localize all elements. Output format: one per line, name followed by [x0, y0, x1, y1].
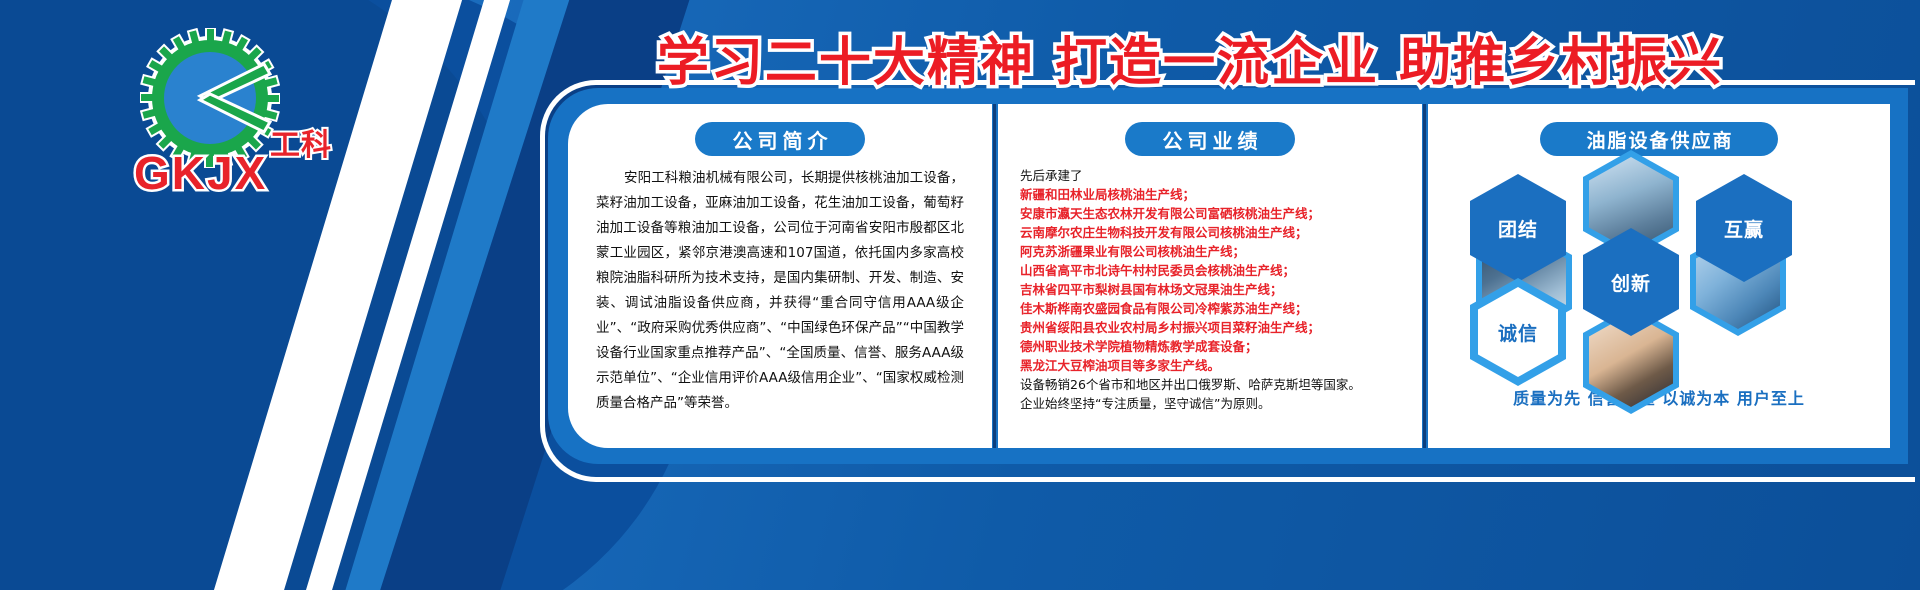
performance-tail: 设备畅销26个省市和地区并出口俄罗斯、哈萨克斯坦等国家。企业始终坚持“专注质量，…	[1016, 375, 1404, 413]
company-logo: 工科 GKJX	[118, 28, 348, 208]
company-profile-body: 安阳工科粮油机械有限公司，长期提供核桃油加工设备，菜籽油加工设备，亚麻油加工设备…	[586, 166, 974, 416]
panel-divider-2	[1423, 104, 1426, 448]
project-list: 新疆和田林业局核桃油生产线；安康市瀛天生态农林开发有限公司富硒核桃油生产线；云南…	[1016, 185, 1404, 375]
panel-title-company-profile: 公司简介	[695, 122, 865, 156]
project-item: 阿克苏浙疆果业有限公司核桃油生产线；	[1016, 242, 1404, 261]
project-item: 黑龙江大豆榨油项目等多家生产线。	[1016, 356, 1404, 375]
performance-lead: 先后承建了	[1016, 166, 1404, 185]
hex-label-innovation: 创新	[1583, 228, 1679, 336]
project-item: 吉林省四平市梨树县国有林场文冠果油生产线；	[1016, 280, 1404, 299]
panel-company-performance: 公司业绩 先后承建了 新疆和田林业局核桃油生产线；安康市瀛天生态农林开发有限公司…	[998, 104, 1422, 448]
performance-note: 设备畅销26个省市和地区并出口俄罗斯、哈萨克斯坦等国家。	[1016, 375, 1404, 394]
panel-oil-equipment-supplier: 油脂设备供应商 团结 互赢 创新 诚信 质量为先 信誉为重 以诚为本 用户至上	[1428, 104, 1890, 448]
logo-latin-text: GKJX	[134, 146, 267, 200]
hexagon-cluster: 团结 互赢 创新 诚信	[1446, 166, 1886, 381]
project-item: 佳木斯桦南农盛园食品有限公司冷榨紫苏油生产线；	[1016, 299, 1404, 318]
hex-label-integrity-text: 诚信	[1478, 287, 1558, 377]
panel-divider-1	[993, 104, 996, 448]
page-title: 学习二十大精神 打造一流企业 助推乡村振兴	[520, 20, 1860, 95]
project-item: 德州职业技术学院植物精炼教学成套设备；	[1016, 337, 1404, 356]
panel-company-profile: 公司简介 安阳工科粮油机械有限公司，长期提供核桃油加工设备，菜籽油加工设备，亚麻…	[568, 104, 992, 448]
logo-chinese-text: 工科	[270, 120, 332, 164]
project-item: 山西省高平市北诗午村村民委员会核桃油生产线；	[1016, 261, 1404, 280]
project-item: 云南摩尔农庄生物科技开发有限公司核桃油生产线；	[1016, 223, 1404, 242]
panel-container: 公司简介 安阳工科粮油机械有限公司，长期提供核桃油加工设备，菜籽油加工设备，亚麻…	[568, 104, 1890, 448]
project-item: 安康市瀛天生态农林开发有限公司富硒核桃油生产线；	[1016, 204, 1404, 223]
performance-note: 企业始终坚持“专注质量，坚守诚信”为原则。	[1016, 394, 1404, 413]
project-item: 贵州省绥阳县农业农村局乡村振兴项目菜籽油生产线；	[1016, 318, 1404, 337]
panel-title-supplier: 油脂设备供应商	[1540, 122, 1778, 156]
banner-canvas: 工科 GKJX 学习二十大精神 打造一流企业 助推乡村振兴 公司简介 安阳工科粮…	[0, 0, 1920, 590]
panel-title-company-performance: 公司业绩	[1125, 122, 1295, 156]
project-item: 新疆和田林业局核桃油生产线；	[1016, 185, 1404, 204]
